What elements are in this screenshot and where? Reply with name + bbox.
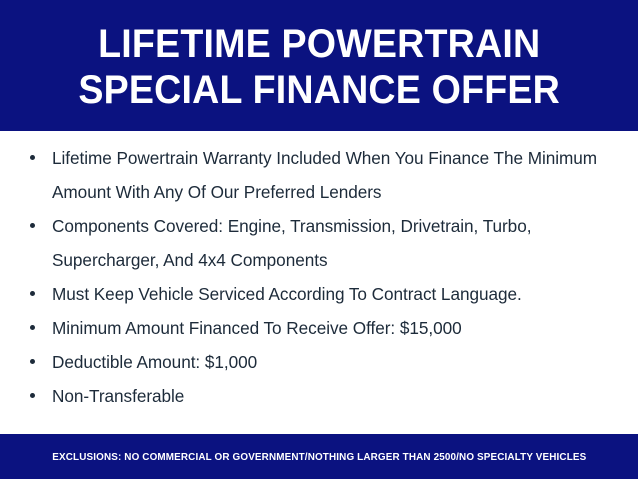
- exclusions-text: EXCLUSIONS: NO COMMERCIAL OR GOVERNMENT/…: [52, 452, 586, 463]
- list-item: Lifetime Powertrain Warranty Included Wh…: [24, 141, 616, 209]
- list-item: Minimum Amount Financed To Receive Offer…: [24, 311, 616, 345]
- list-item: Non-Transferable: [24, 379, 616, 413]
- bullet-dot-icon: [30, 155, 35, 160]
- bullet-dot-icon: [30, 359, 35, 364]
- list-item-label: Components Covered: Engine, Transmission…: [52, 209, 604, 277]
- bullet-dot-icon: [30, 393, 35, 398]
- list-item: Must Keep Vehicle Serviced According To …: [24, 277, 616, 311]
- list-item-label: Lifetime Powertrain Warranty Included Wh…: [52, 141, 600, 209]
- bullet-dot-icon: [30, 325, 35, 330]
- offer-details-body: Lifetime Powertrain Warranty Included Wh…: [0, 131, 638, 434]
- bullet-dot-icon: [30, 291, 35, 296]
- header-banner: LIFETIME POWERTRAIN SPECIAL FINANCE OFFE…: [0, 0, 638, 131]
- list-item-label: Minimum Amount Financed To Receive Offer…: [52, 311, 616, 345]
- page-title-line-1: LIFETIME POWERTRAIN: [98, 21, 540, 67]
- offer-slide: LIFETIME POWERTRAIN SPECIAL FINANCE OFFE…: [0, 0, 638, 479]
- list-item: Components Covered: Engine, Transmission…: [24, 209, 616, 277]
- page-title-line-2: SPECIAL FINANCE OFFER: [78, 67, 560, 113]
- offer-bullet-list: Lifetime Powertrain Warranty Included Wh…: [24, 141, 616, 413]
- footer-banner: EXCLUSIONS: NO COMMERCIAL OR GOVERNMENT/…: [0, 434, 638, 479]
- list-item-label: Non-Transferable: [52, 379, 616, 413]
- bullet-dot-icon: [30, 223, 35, 228]
- list-item-label: Must Keep Vehicle Serviced According To …: [52, 277, 616, 311]
- list-item-label: Deductible Amount: $1,000: [52, 345, 616, 379]
- list-item: Deductible Amount: $1,000: [24, 345, 616, 379]
